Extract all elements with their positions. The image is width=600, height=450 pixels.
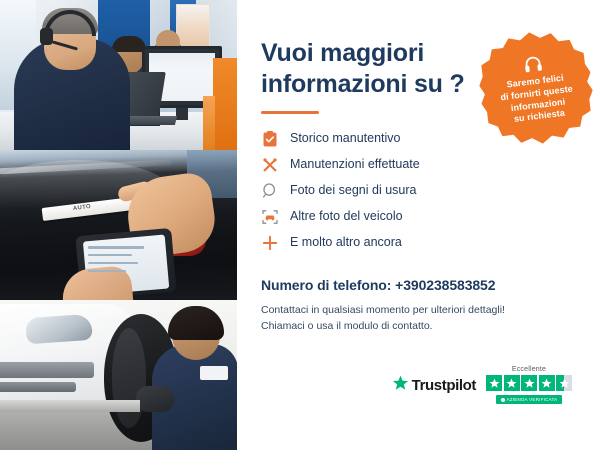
promo-banner: AUTO: [0, 0, 600, 450]
photo-column: AUTO: [0, 0, 237, 450]
verified-label: AZIENDA VERIFICATA: [507, 397, 558, 402]
orange-foreground-object-2: [203, 96, 215, 150]
tablet-screen-line: [88, 246, 144, 249]
star-filled: [504, 375, 520, 391]
check-circle-icon: [501, 398, 505, 402]
trustpilot-logo: Trustpilot: [392, 375, 476, 396]
monitor-stand: [176, 108, 188, 120]
verified-badge: AZIENDA VERIFICATA: [496, 395, 563, 404]
star-filled: [539, 375, 555, 391]
page-title: Vuoi maggiori informazioni su ?: [261, 38, 471, 99]
headset-earcup-icon: [40, 28, 53, 45]
contact-subtext: Contattaci in qualsiasi momento per ulte…: [261, 302, 578, 335]
clipboard-check-icon: [261, 130, 278, 147]
headline-line-1: Vuoi maggiori: [261, 39, 424, 67]
badge-text: Saremo felici di fornirti queste informa…: [498, 71, 576, 127]
title-divider: [261, 111, 319, 114]
vehicle-lift-ramp: [0, 400, 140, 412]
crossed-tools-icon: [261, 156, 278, 173]
vehicle-inspection-photo: AUTO: [0, 150, 237, 300]
orange-foreground-object: [213, 58, 237, 150]
plus-icon: [261, 234, 278, 251]
background-colleague-1-hair: [112, 36, 146, 52]
star-half: [556, 375, 572, 391]
star-rating: [486, 375, 572, 391]
phone-label: Numero di telefono:: [261, 277, 391, 293]
content-panel: Saremo felici di fornirti queste informa…: [237, 0, 600, 450]
list-item: E molto altro ancora: [261, 234, 578, 251]
car-headlight: [25, 314, 93, 345]
list-item-label: Foto dei segni di usura: [290, 184, 416, 197]
headline-line-2: informazioni su ?: [261, 70, 465, 98]
magnifier-icon: [261, 182, 278, 199]
uniform-badge: [200, 366, 228, 380]
star-filled: [521, 375, 537, 391]
trustpilot-star-icon: [392, 375, 409, 396]
trustpilot-rating: Eccellente: [486, 366, 572, 404]
feature-list: Storico manutentivo Manutenzioni effettu…: [261, 130, 578, 251]
phone-number[interactable]: +390238583852: [395, 277, 495, 293]
contact-subtext-line-1: Contattaci in qualsiasi momento per ulte…: [261, 302, 578, 318]
trustpilot-name: Trustpilot: [412, 377, 476, 394]
list-item-label: E molto altro ancora: [290, 236, 402, 249]
headset-icon: [522, 54, 544, 74]
list-item-label: Manutenzioni effettuate: [290, 158, 420, 171]
contact-subtext-line-2: Chiamaci o usa il modulo di contatto.: [261, 318, 578, 334]
list-item: Manutenzioni effettuate: [261, 156, 578, 173]
phone-line: Numero di telefono: +390238583852: [261, 277, 578, 293]
scan-car-icon: [261, 208, 278, 225]
star-filled: [486, 375, 502, 391]
car-lower-grille: [0, 382, 76, 392]
wall-poster: [176, 4, 210, 48]
list-item: Foto dei segni di usura: [261, 182, 578, 199]
tablet-screen-line: [88, 254, 132, 256]
call-center-photo: [0, 0, 237, 150]
list-item: Altre foto del veicolo: [261, 208, 578, 225]
mechanic-glove: [136, 386, 174, 412]
mechanic-wheel-photo: [0, 300, 237, 450]
list-item-label: Altre foto del veicolo: [290, 210, 403, 223]
rating-label: Eccellente: [512, 366, 546, 373]
car-tyre-sidewall: [112, 328, 146, 428]
trustpilot-widget[interactable]: Trustpilot Eccellente: [261, 366, 578, 404]
tablet-screen-line: [88, 270, 126, 272]
list-item-label: Storico manutentivo: [290, 132, 400, 145]
car-grille: [0, 362, 94, 378]
tablet-screen-line: [88, 262, 138, 264]
